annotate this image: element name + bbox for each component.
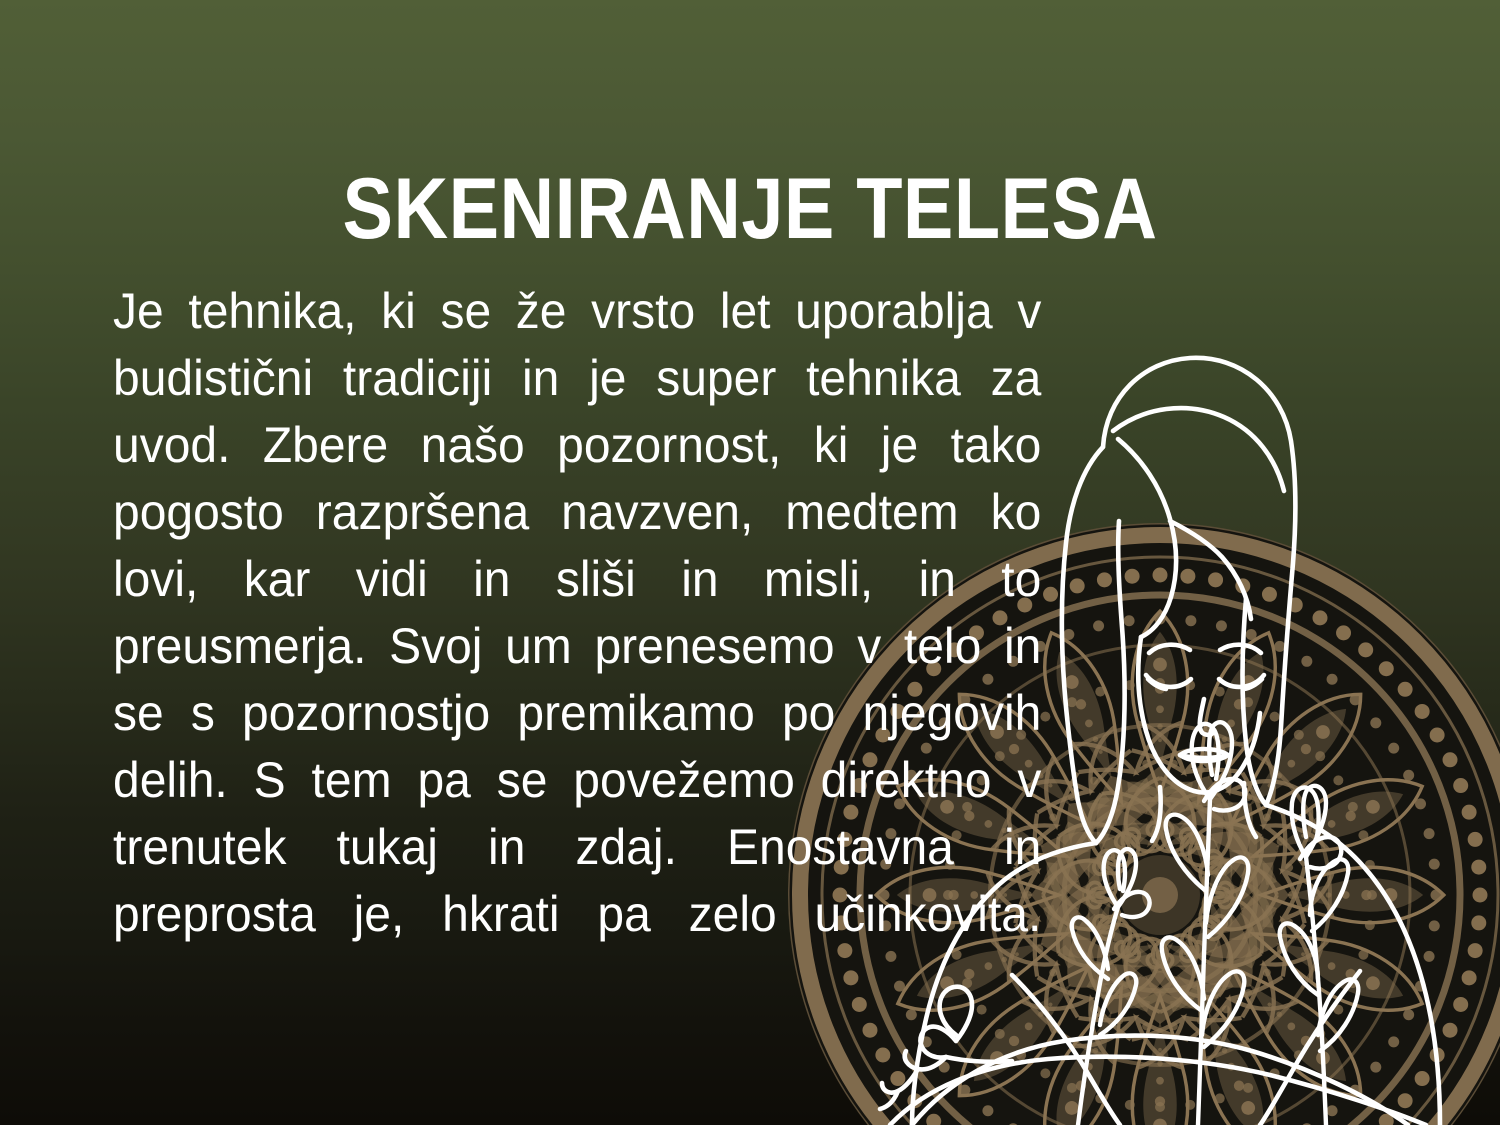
- leaf-center-left-2: [1162, 937, 1204, 1011]
- leaf-right-3: [1318, 979, 1358, 1051]
- hair-left-inner: [1096, 521, 1125, 843]
- neck-right: [1244, 783, 1256, 837]
- neck-left: [1152, 787, 1161, 841]
- slide-body-paragraph: Je tehnika, ki se že vrsto let uporablja…: [113, 278, 1041, 1015]
- lap-upper: [912, 1036, 1408, 1125]
- tulip-center-petal-left: [1192, 724, 1219, 799]
- hair-right-inner: [1243, 599, 1266, 805]
- tulip-right-petal-left: [1292, 787, 1319, 857]
- tulip-center-petal-right: [1209, 722, 1232, 799]
- tulip-center-petal-outer: [1204, 779, 1245, 811]
- tulip-right-petal-right: [1303, 786, 1326, 857]
- hair-left-outline: [1062, 447, 1103, 843]
- leaf-center-right-1: [1206, 857, 1248, 937]
- leaf-left-1: [1072, 917, 1108, 979]
- right-eye-closed: [1219, 675, 1264, 687]
- hair-swoop-right: [1170, 521, 1251, 619]
- mudra-finger-4: [880, 1091, 898, 1109]
- tulip-right-petal-outer: [1300, 837, 1341, 869]
- left-lash: [1148, 679, 1166, 689]
- leaf-right-1: [1310, 859, 1348, 931]
- hair-swoop-left: [1118, 439, 1176, 637]
- leaf-center-right-2: [1202, 971, 1244, 1047]
- stem-left: [1078, 907, 1118, 1125]
- mudra-thumb: [920, 1027, 956, 1058]
- slide-canvas: SKENIRANJE TELESA Je tehnika, ki se že v…: [0, 0, 1500, 1125]
- hair-part-upper: [1113, 408, 1284, 491]
- lap-lower: [890, 1057, 1426, 1125]
- leaf-right-2: [1280, 923, 1318, 995]
- forearm-right: [1260, 971, 1360, 1125]
- right-lash: [1244, 679, 1262, 689]
- lips: [1180, 749, 1228, 761]
- leaf-left-2: [1100, 973, 1136, 1035]
- stem-right: [1306, 857, 1326, 1125]
- stem-center: [1198, 799, 1210, 1125]
- hair-right-outline: [1103, 358, 1295, 805]
- left-eye-closed: [1146, 675, 1191, 687]
- lip-line: [1180, 755, 1228, 758]
- shoulder-arm-right: [1266, 805, 1440, 1125]
- tulip-sprigs-line-art: [1072, 722, 1359, 1125]
- mudra-wrist: [946, 1057, 1012, 1062]
- face-contour: [1138, 637, 1260, 793]
- slide-title: SKENIRANJE TELESA: [90, 166, 1410, 252]
- tulip-left-petal-left: [1104, 850, 1125, 907]
- left-eyebrow: [1149, 645, 1190, 653]
- leaf-center-left-1: [1166, 815, 1208, 891]
- tulip-left-petal-outer: [1114, 892, 1150, 917]
- tulip-left-petal-right: [1118, 849, 1136, 907]
- nose: [1200, 699, 1213, 735]
- mudra-finger-2: [905, 1051, 946, 1069]
- mudra-finger-3: [882, 1069, 918, 1093]
- right-eyebrow: [1220, 645, 1261, 653]
